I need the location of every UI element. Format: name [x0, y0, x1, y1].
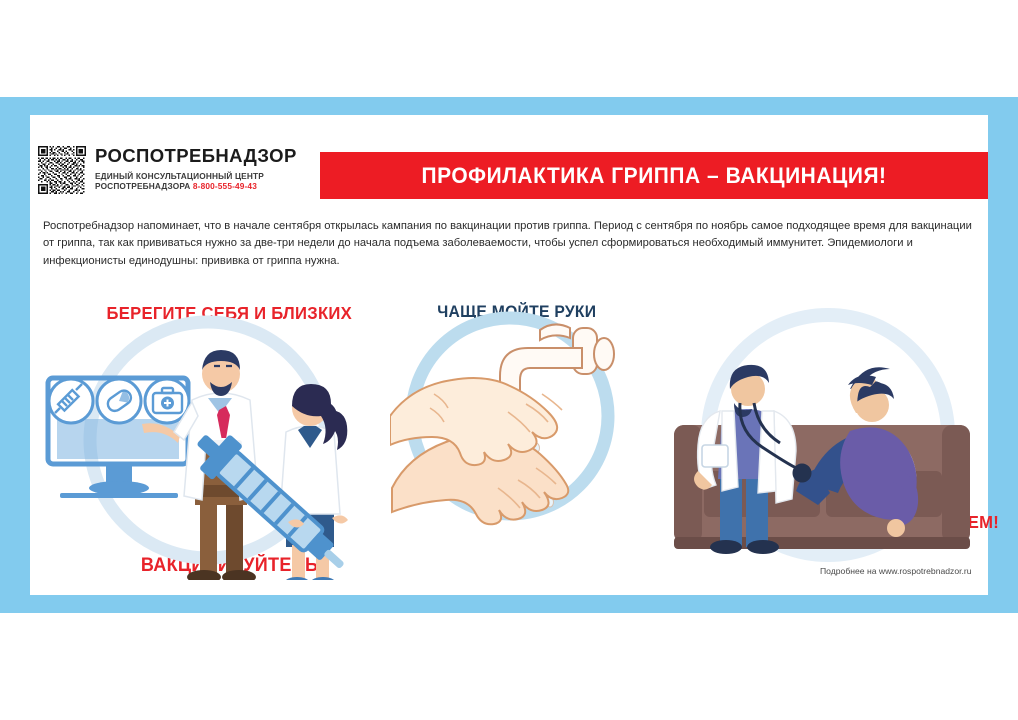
logo-title: РОСПОТРЕБНАДЗОР: [95, 147, 297, 166]
intro-paragraph: Роспотребнадзор напоминает, что в начале…: [43, 218, 979, 270]
banner-title: ПРОФИЛАКТИКА ГРИППА – ВАКЦИНАЦИЯ!: [421, 163, 886, 189]
banner: ПРОФИЛАКТИКА ГРИППА – ВАКЦИНАЦИЯ!: [320, 152, 988, 199]
illustration-self-medication: [660, 285, 990, 585]
illustration-handwashing: [390, 290, 630, 550]
qr-code: [38, 146, 86, 194]
illustration-vaccination: [40, 290, 360, 580]
logo-subtitle-line1: ЕДИНЫЙ КОНСУЛЬТАЦИОННЫЙ ЦЕНТР: [95, 171, 264, 181]
logo-subtitle: ЕДИНЫЙ КОНСУЛЬТАЦИОННЫЙ ЦЕНТР РОСПОТРЕБН…: [95, 171, 297, 193]
hotline-phone[interactable]: 8-800-555-49-43: [193, 181, 257, 191]
logo-subtitle-line2: РОСПОТРЕБНАДЗОРА: [95, 181, 190, 191]
rospotrebnadzor-logo: РОСПОТРЕБНАДЗОР ЕДИНЫЙ КОНСУЛЬТАЦИОННЫЙ …: [38, 146, 303, 200]
